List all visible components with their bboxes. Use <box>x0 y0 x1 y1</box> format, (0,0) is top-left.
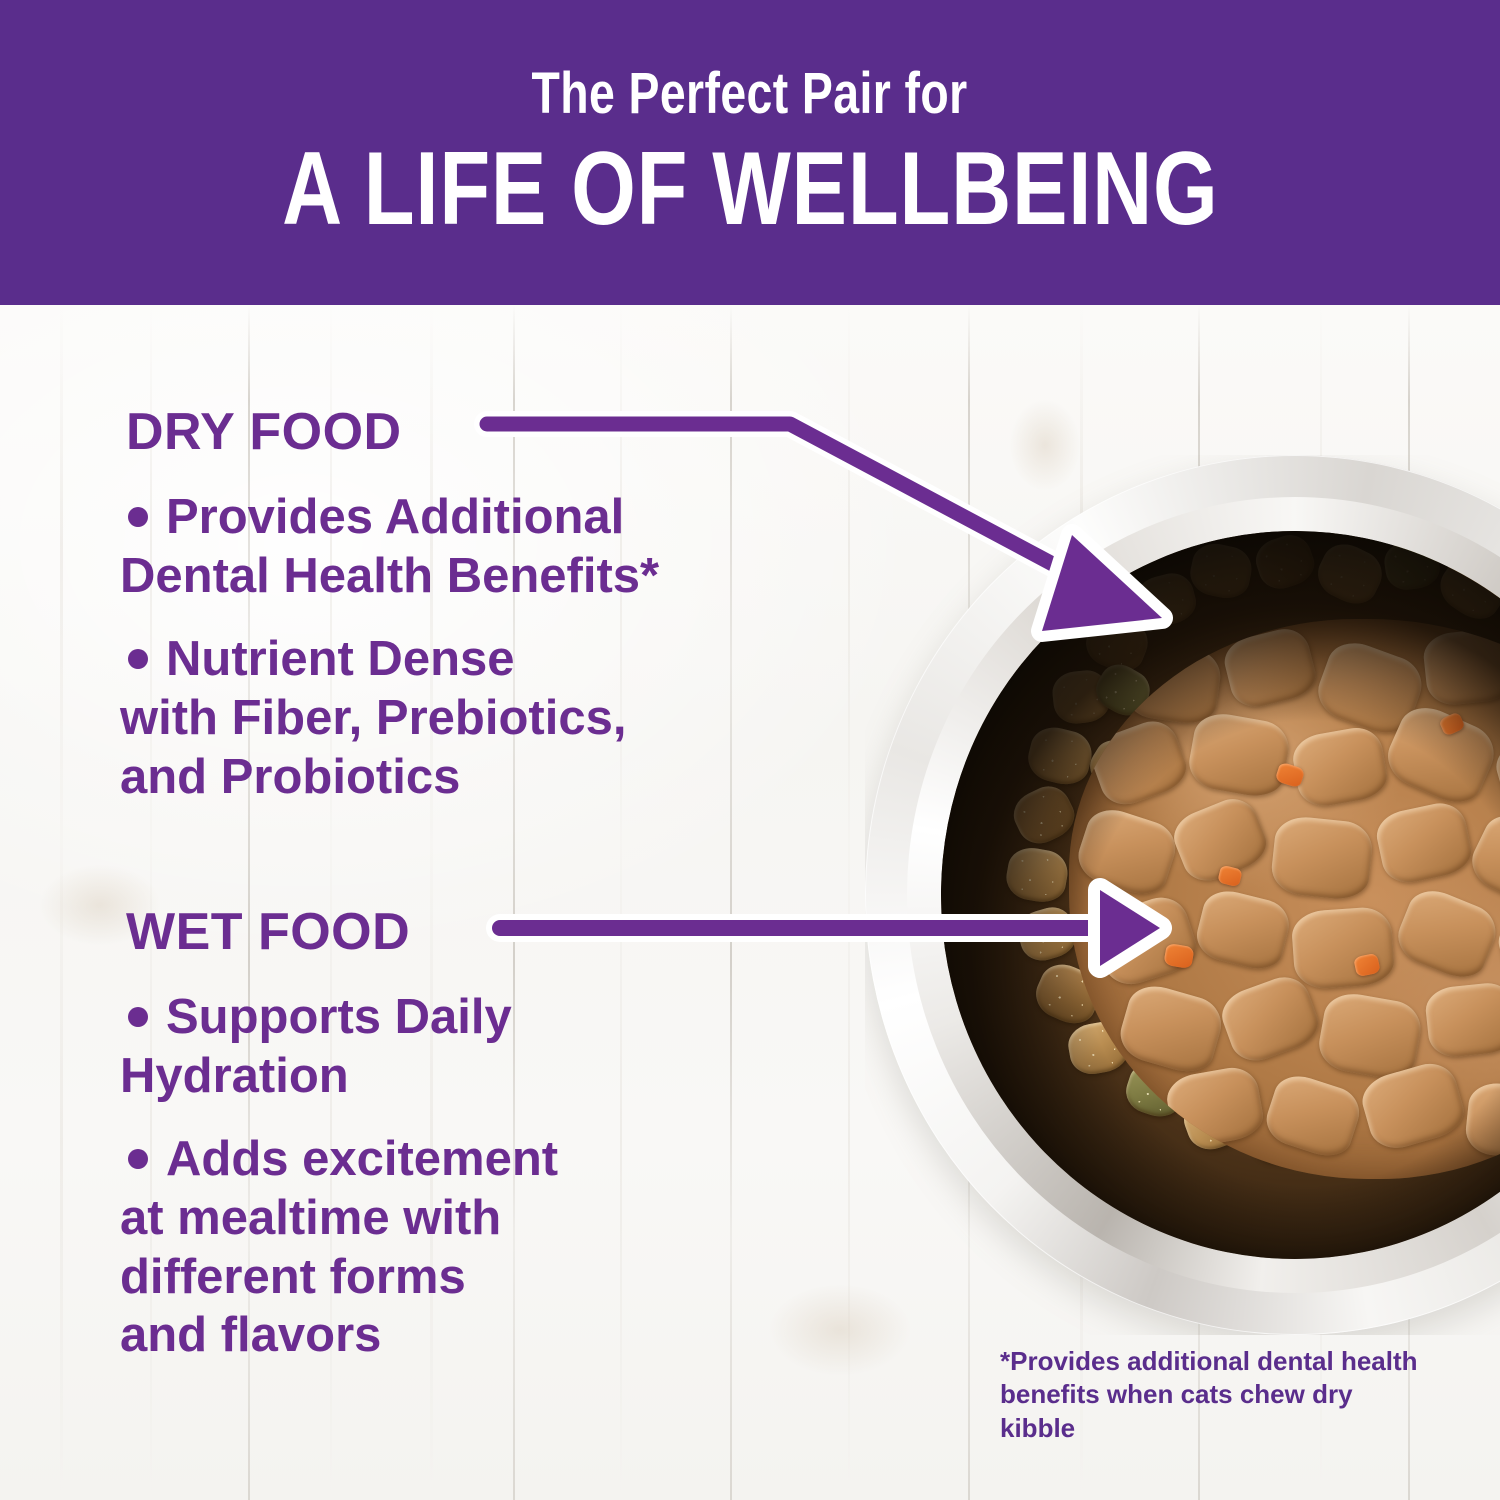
bullet-dot-icon <box>128 1007 148 1027</box>
bullet-dry-2-line2: with Fiber, Prebiotics, <box>120 691 626 745</box>
bullet-wet-2-line3: different forms <box>120 1250 466 1304</box>
bullet-wet-2-line4: and flavors <box>120 1308 381 1362</box>
bullet-dry-1-line1: Provides Additional <box>166 490 624 544</box>
pet-food-bowl-photo <box>865 455 1500 1335</box>
header-banner: The Perfect Pair for A LIFE OF WELLBEING <box>0 0 1500 305</box>
footnote-line-1: *Provides additional dental health <box>1000 1345 1430 1378</box>
bullet-wet-2-line2: at mealtime with <box>120 1191 501 1245</box>
bullet-wet-1-line2: Hydration <box>120 1049 349 1103</box>
bullet-dry-2-line1: Nutrient Dense <box>166 632 515 686</box>
bullet-wet-1: Supports Daily Hydration <box>120 988 780 1106</box>
bullet-wet-2: Adds excitement at mealtime with differe… <box>120 1130 780 1365</box>
bullet-dry-2-line3: and Probiotics <box>120 750 460 804</box>
footnote-line-2: benefits when cats chew dry kibble <box>1000 1378 1430 1445</box>
section-heading-wet-food: WET FOOD <box>126 902 410 962</box>
bullet-dot-icon <box>128 649 148 669</box>
bullet-wet-2-line1: Adds excitement <box>166 1132 558 1186</box>
header-title-text: A LIFE OF WELLBEING <box>282 137 1219 241</box>
bullet-dot-icon <box>128 507 148 527</box>
bullet-dry-1: Provides Additional Dental Health Benefi… <box>120 488 780 606</box>
section-heading-dry-food: DRY FOOD <box>126 402 402 462</box>
copy-column: DRY FOOD Provides Additional Dental Heal… <box>0 305 840 1500</box>
bullet-dry-2: Nutrient Dense with Fiber, Prebiotics, a… <box>120 630 780 806</box>
header-eyebrow-text: The Perfect Pair for <box>532 65 968 123</box>
bullet-dry-1-line2: Dental Health Benefits* <box>120 549 659 603</box>
footnote: *Provides additional dental health benef… <box>1000 1345 1430 1445</box>
bullet-dot-icon <box>128 1149 148 1169</box>
bullet-wet-1-line1: Supports Daily <box>166 990 512 1044</box>
